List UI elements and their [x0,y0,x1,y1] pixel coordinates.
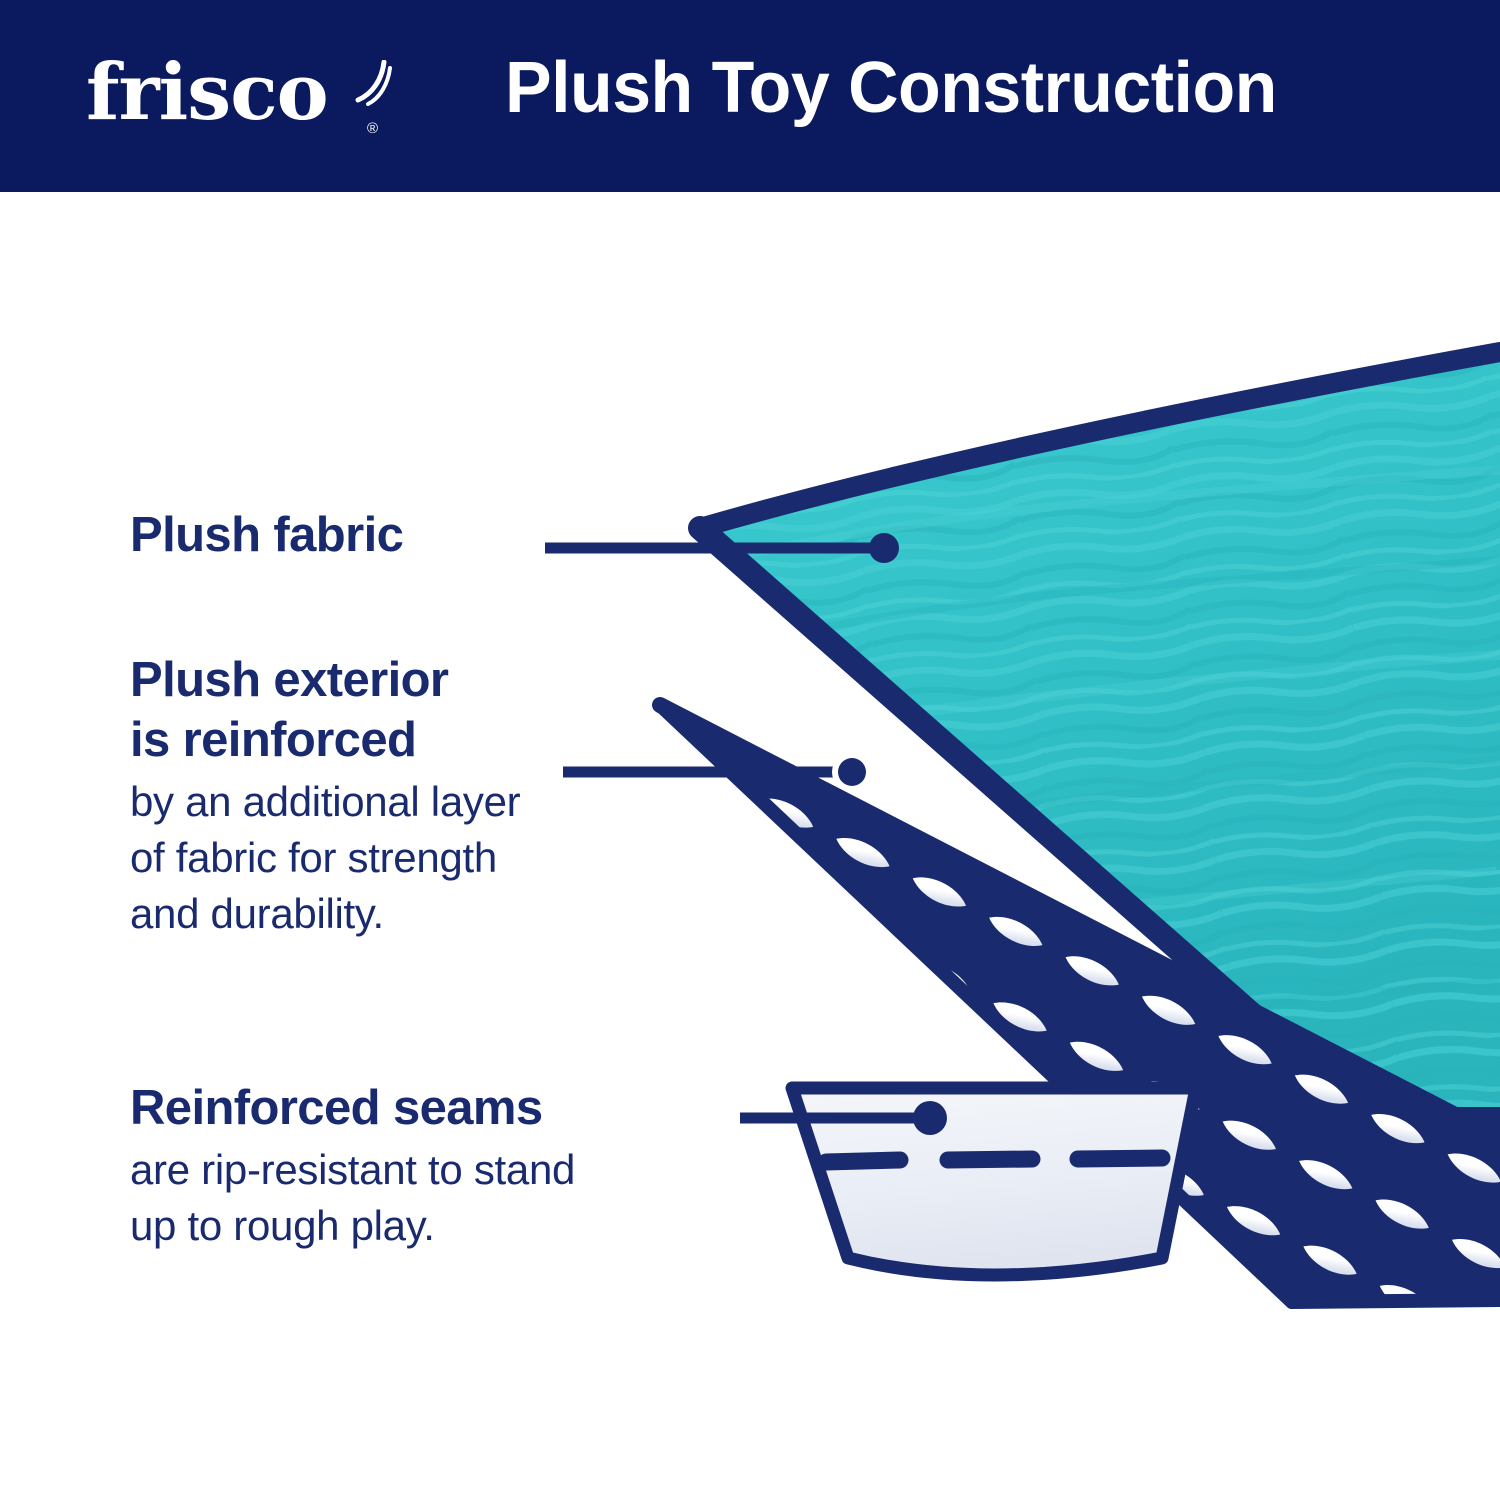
seam-flap-layer [792,1088,1196,1275]
stitch-dashes [826,1158,1162,1162]
registered-trademark-symbol: ® [367,120,378,137]
callout-body-reinforced-seams: are rip-resistant to stand up to rough p… [130,1142,575,1254]
brand-wordmark: frisco [86,48,328,138]
callout-heading-reinforced-seams: Reinforced seams [130,1078,575,1138]
callout-plush-fabric: Plush fabric [130,505,403,565]
infographic-page: frisco ® Plush Toy Construction [0,0,1500,1500]
reinforcement-mesh-layer [505,705,1500,1493]
leader-dot-plush-exterior [838,758,866,786]
callout-plush-exterior: Plush exterior is reinforced by an addit… [130,650,520,942]
callout-reinforced-seams: Reinforced seams are rip-resistant to st… [130,1078,575,1254]
leader-dot-ring-plush-exterior [832,752,872,792]
page-title: Plush Toy Construction [505,47,1277,129]
callout-heading-plush-exterior: Plush exterior is reinforced [130,650,520,770]
leader-dot-plush-fabric [869,533,899,563]
frisco-logo: frisco ® [86,48,386,148]
header-bar: frisco ® Plush Toy Construction [0,0,1500,192]
logo-swoosh-icon [354,60,394,106]
callout-leaders [545,533,947,1135]
plush-fabric-layer [600,330,1500,1150]
callout-body-plush-exterior: by an additional layer of fabric for str… [130,774,520,942]
leader-dot-reinforced-seams [913,1101,947,1135]
callout-heading-plush-fabric: Plush fabric [130,505,403,565]
